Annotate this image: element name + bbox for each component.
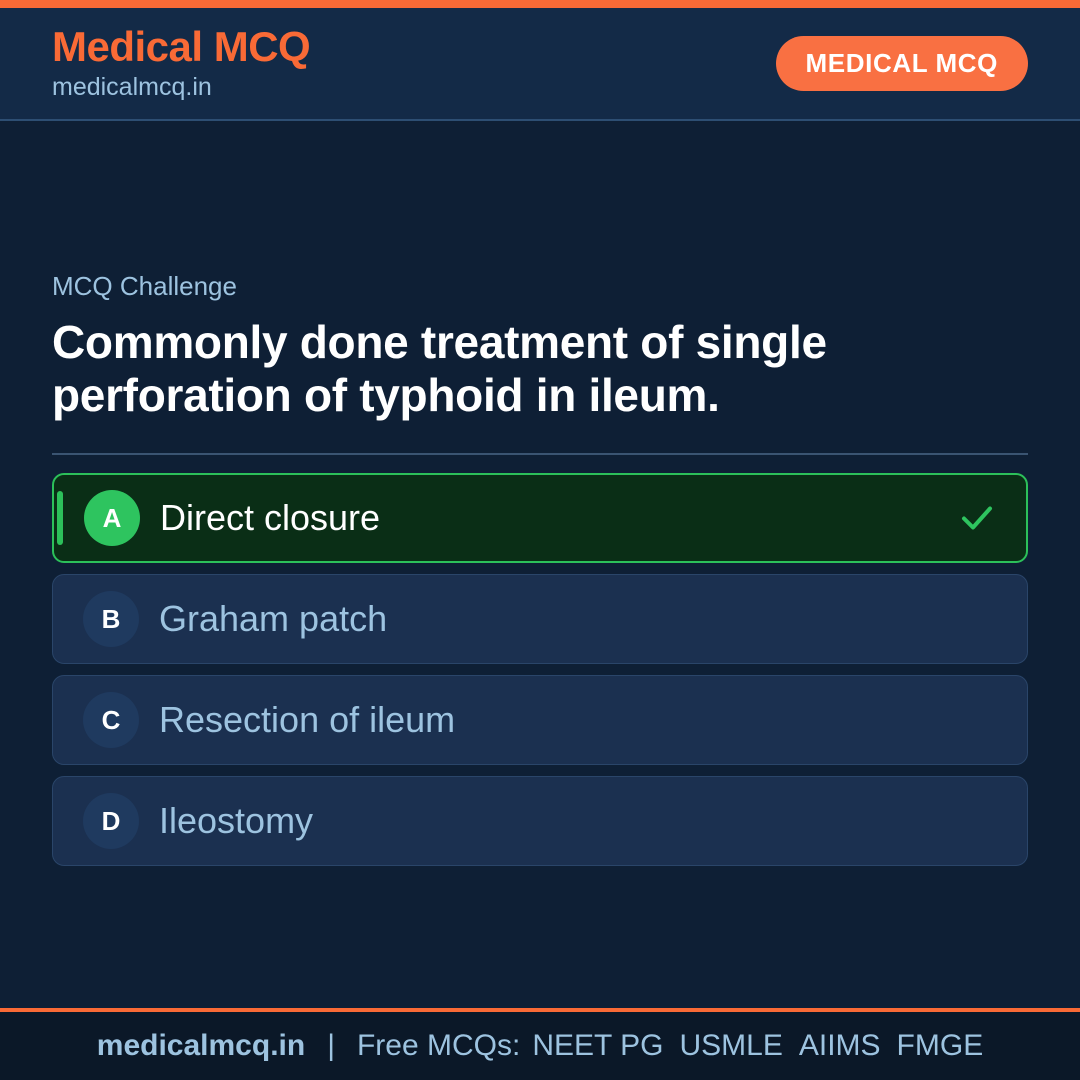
check-icon (956, 497, 998, 539)
option-a[interactable]: A Direct closure (52, 473, 1028, 563)
option-a-badge: A (84, 490, 140, 546)
header: Medical MCQ medicalmcq.in MEDICAL MCQ (0, 8, 1080, 121)
footer-row: medicalmcq.in | Free MCQs: NEET PG USMLE… (97, 1029, 983, 1063)
question-text: Commonly done treatment of single perfor… (52, 316, 982, 421)
option-a-label: Direct closure (160, 498, 380, 538)
footer-exam-usmle: USMLE (680, 1029, 783, 1063)
footer: medicalmcq.in | Free MCQs: NEET PG USMLE… (0, 1008, 1080, 1080)
footer-exam-neetpg: NEET PG (532, 1029, 663, 1063)
brand: Medical MCQ medicalmcq.in (52, 24, 310, 104)
top-accent-strip (0, 0, 1080, 8)
footer-exam-fmge: FMGE (897, 1029, 984, 1063)
kicker-label: MCQ Challenge (52, 271, 1028, 302)
option-d-label: Ileostomy (159, 801, 313, 841)
options-list: A Direct closure B Graham patch C Resect… (52, 473, 1028, 866)
option-c-badge: C (83, 692, 139, 748)
main-content: MCQ Challenge Commonly done treatment of… (0, 121, 1080, 1008)
option-b-badge: B (83, 591, 139, 647)
question-divider (52, 453, 1028, 455)
option-b-label: Graham patch (159, 599, 387, 639)
option-c[interactable]: C Resection of ileum (52, 675, 1028, 765)
brand-website: medicalmcq.in (52, 71, 310, 104)
option-d[interactable]: D Ileostomy (52, 776, 1028, 866)
correct-accent-bar (57, 491, 63, 545)
option-d-badge: D (83, 793, 139, 849)
brand-title: Medical MCQ (52, 24, 310, 69)
footer-label: Free MCQs: (357, 1029, 520, 1063)
footer-separator: | (327, 1029, 335, 1063)
header-badge: MEDICAL MCQ (776, 36, 1028, 91)
option-c-label: Resection of ileum (159, 700, 455, 740)
mcq-card: Medical MCQ medicalmcq.in MEDICAL MCQ MC… (0, 0, 1080, 1080)
footer-exam-aiims: AIIMS (799, 1029, 881, 1063)
footer-site: medicalmcq.in (97, 1029, 305, 1063)
option-b[interactable]: B Graham patch (52, 574, 1028, 664)
